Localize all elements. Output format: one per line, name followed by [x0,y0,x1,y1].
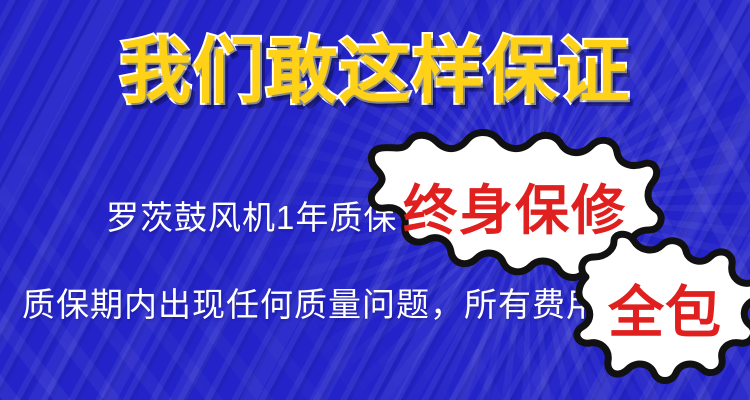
promo-banner: 我们敢这样保证 罗茨鼓风机1年质保， 质保期内出现任何质量问题，所有费用工厂 终… [0,0,750,400]
starburst-shape-icon [576,235,750,380]
warranty-coverage-line: 质保期内出现任何质量问题，所有费用工厂 [22,286,668,324]
badge-all-inclusive: 全包 [576,235,750,380]
page-title: 我们敢这样保证 [0,30,750,114]
